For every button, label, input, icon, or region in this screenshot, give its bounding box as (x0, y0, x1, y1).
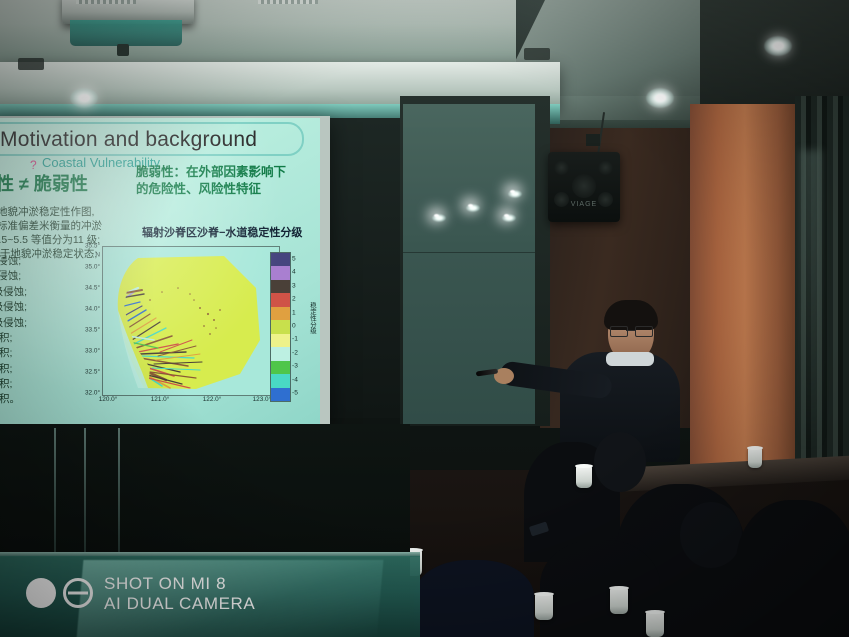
downlight-1 (70, 88, 98, 108)
list-item: g5 级侵蚀; (0, 316, 27, 331)
audience-person-5 (414, 560, 534, 637)
y-tick: 35.5° (85, 243, 100, 250)
colorbar-cell (271, 334, 290, 347)
map-svg (104, 248, 276, 392)
colorbar-cell (271, 347, 290, 360)
slide-title: Motivation and background (0, 128, 257, 152)
stability-map-figure: 35.5° N 35.0° 34.5° 34.0° 33.5° 33.0° 32… (60, 240, 316, 424)
list-item: g4 级侵蚀; (0, 300, 27, 315)
audience-head-1 (594, 432, 646, 492)
colorbar-tick: 3 (292, 282, 296, 289)
presenter-collar (606, 352, 654, 366)
wall-light-reflection-2 (466, 204, 480, 212)
colorbar-cell (271, 361, 290, 374)
ceiling-vent-1 (18, 58, 44, 70)
wall-speaker: VIAGE (548, 152, 620, 222)
y-tick: 33.5° (85, 327, 100, 334)
table-cup-2 (610, 588, 628, 614)
colorbar-axis-title: 稳定性分级 (308, 302, 317, 334)
slide-body-line-1: 地区地貌冲淤稳定性作图, (0, 206, 102, 220)
x-tick: 122.0° (203, 396, 222, 403)
colorbar-cell (271, 253, 290, 266)
photo-scene: VIAGE Motivation and background ? Coasta… (0, 0, 849, 637)
slide-subtitle-chinese: 定性 ≠ 脆弱性 (0, 170, 88, 196)
audience-person-3 (736, 500, 849, 637)
slide-right-line-2: 的危险性、风险性特征 (136, 181, 286, 198)
y-tick: 34.5° (85, 285, 100, 292)
y-axis-unit: N (95, 252, 100, 259)
list-item: 2 级侵蚀; (0, 269, 27, 284)
projector-lens-housing (70, 20, 182, 46)
audience-cup-held (576, 466, 592, 488)
map-fan-region (104, 248, 276, 392)
colorbar-tick: 0 (292, 323, 296, 330)
audience-person-4 (540, 540, 660, 637)
colorbar-tick: 5 (292, 255, 296, 262)
list-item: 1 级侵蚀; (0, 254, 27, 269)
figure-title: 辐射沙脊区沙脊−水道稳定性分级 (142, 224, 302, 240)
slide-body-line-2: 的以标准偏差米衡量的冲淤 (0, 220, 102, 234)
colorbar-cell (271, 293, 290, 306)
list-item: 级淤积; (0, 346, 27, 361)
curtain-highlight (800, 150, 822, 450)
x-tick: 120.0° (99, 396, 118, 403)
wall-light-reflection-4 (508, 190, 522, 198)
colorbar-tick: -1 (292, 336, 298, 343)
slide-right-text-block: 脆弱性：在外部因素影响下 的危险性、风险性特征 (136, 164, 286, 198)
map-y-axis: 35.5° N 35.0° 34.5° 34.0° 33.5° 33.0° 32… (60, 246, 100, 394)
watermark-line-2: AI DUAL CAMERA (104, 594, 255, 614)
colorbar-cell (271, 307, 290, 320)
colorbar-cell (271, 280, 290, 293)
camera-watermark: SHOT ON MI 8 AI DUAL CAMERA (26, 572, 266, 628)
y-tick: 35.0° (85, 264, 100, 271)
colorbar-cell (271, 374, 290, 387)
table-support-2 (84, 428, 86, 558)
list-item: 级淤积; (0, 362, 27, 377)
table-cup-4 (748, 448, 762, 468)
slide-right-line-1: 脆弱性：在外部因素影响下 (136, 164, 286, 181)
y-tick: 32.5° (85, 369, 100, 376)
map-colorbar (270, 252, 291, 402)
colorbar-cell (271, 320, 290, 333)
list-item: g3 级侵蚀; (0, 285, 27, 300)
wall-light-reflection-3 (502, 214, 516, 222)
list-item: 级淤积; (0, 377, 27, 392)
y-tick: 33.0° (85, 348, 100, 355)
list-item: 级淤积。 (0, 392, 27, 407)
speaker-brand-label: VIAGE (548, 201, 620, 208)
slide-grade-list: 1 级侵蚀; 2 级侵蚀; g3 级侵蚀; g4 级侵蚀; g5 级侵蚀; 级淤… (0, 254, 27, 408)
wall-junction-box (586, 134, 600, 146)
aperture-ring-icon (63, 578, 93, 608)
table-support-1 (54, 428, 56, 558)
colorbar-tick: 1 (292, 309, 296, 316)
audience-head-2 (680, 502, 742, 568)
list-item: 级淤积; (0, 331, 27, 346)
colorbar-tick: 4 (292, 269, 296, 276)
projection-screen: Motivation and background ? Coastal Vuln… (0, 118, 320, 424)
downlight-2 (646, 88, 674, 108)
map-x-axis: 120.0° 121.0° 122.0° 123.0°E (102, 396, 278, 408)
colorbar-tick: -3 (292, 363, 298, 370)
ceiling-vent-2 (524, 48, 550, 60)
colorbar-tick: 2 (292, 296, 296, 303)
projector-vent-right (258, 0, 318, 4)
colorbar-cell (271, 388, 290, 401)
presenter-glasses-icon (610, 326, 652, 335)
colorbar-tick: -5 (292, 390, 298, 397)
table-support-3 (118, 428, 120, 558)
colorbar-tick: -4 (292, 376, 298, 383)
filled-circle-icon (26, 578, 56, 608)
x-tick: 121.0° (151, 396, 170, 403)
table-cup-1 (535, 594, 553, 620)
wall-light-reflection-1 (432, 214, 446, 222)
colorbar-tick: -2 (292, 349, 298, 356)
table-cup-3 (646, 612, 664, 637)
watermark-line-1: SHOT ON MI 8 (104, 574, 226, 594)
y-tick: 34.0° (85, 306, 100, 313)
projector-mount (117, 44, 129, 56)
downlight-3 (764, 36, 792, 56)
colorbar-cell (271, 266, 290, 279)
projector-vent-left (76, 0, 136, 4)
